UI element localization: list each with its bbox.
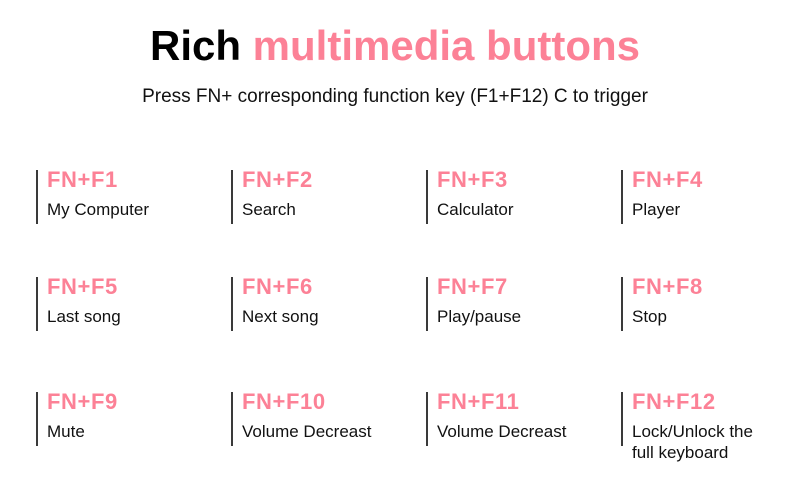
shortcut-key: FN+F2 bbox=[242, 168, 426, 193]
shortcut-key: FN+F4 bbox=[632, 168, 790, 193]
shortcut-item-fn-f1[interactable]: FN+F1 My Computer bbox=[36, 168, 231, 220]
shortcut-item-fn-f4[interactable]: FN+F4 Player bbox=[621, 168, 790, 220]
shortcut-key: FN+F1 bbox=[47, 168, 231, 193]
page-title-primary: Rich bbox=[150, 22, 253, 69]
shortcut-item-fn-f6[interactable]: FN+F6 Next song bbox=[231, 275, 426, 327]
page-header: Rich multimedia buttons Press FN+ corres… bbox=[0, 0, 790, 109]
shortcut-item-fn-f10[interactable]: FN+F10 Volume Decreast bbox=[231, 390, 426, 442]
shortcut-grid: FN+F1 My Computer FN+F2 Search FN+F3 Cal… bbox=[0, 168, 790, 490]
accent-bar-icon bbox=[426, 170, 428, 224]
shortcut-label: Search bbox=[242, 193, 426, 221]
page-subtitle: Press FN+ corresponding function key (F1… bbox=[0, 69, 790, 109]
accent-bar-icon bbox=[36, 170, 38, 224]
shortcut-key: FN+F12 bbox=[632, 390, 790, 415]
accent-bar-icon bbox=[621, 277, 623, 331]
shortcut-row: FN+F9 Mute FN+F10 Volume Decreast FN+F11… bbox=[36, 390, 780, 490]
shortcut-item-fn-f11[interactable]: FN+F11 Volume Decreast bbox=[426, 390, 621, 442]
page-title-accent: multimedia buttons bbox=[253, 22, 640, 69]
shortcut-label: Play/pause bbox=[437, 300, 621, 328]
shortcut-key: FN+F6 bbox=[242, 275, 426, 300]
shortcut-label: Calculator bbox=[437, 193, 621, 221]
accent-bar-icon bbox=[36, 392, 38, 446]
shortcut-item-fn-f5[interactable]: FN+F5 Last song bbox=[36, 275, 231, 327]
shortcut-item-fn-f8[interactable]: FN+F8 Stop bbox=[621, 275, 790, 327]
shortcut-row: FN+F1 My Computer FN+F2 Search FN+F3 Cal… bbox=[36, 168, 780, 275]
shortcut-key: FN+F7 bbox=[437, 275, 621, 300]
shortcut-key: FN+F10 bbox=[242, 390, 426, 415]
shortcut-item-fn-f3[interactable]: FN+F3 Calculator bbox=[426, 168, 621, 220]
shortcut-key: FN+F3 bbox=[437, 168, 621, 193]
shortcut-label: Player bbox=[632, 193, 790, 221]
accent-bar-icon bbox=[36, 277, 38, 331]
shortcut-key: FN+F11 bbox=[437, 390, 621, 415]
accent-bar-icon bbox=[621, 170, 623, 224]
shortcut-label: Stop bbox=[632, 300, 790, 328]
shortcut-item-fn-f12[interactable]: FN+F12 Lock/Unlock the full keyboard bbox=[621, 390, 790, 464]
shortcut-label: Volume Decreast bbox=[437, 415, 621, 443]
shortcut-item-fn-f7[interactable]: FN+F7 Play/pause bbox=[426, 275, 621, 327]
accent-bar-icon bbox=[426, 392, 428, 446]
shortcut-key: FN+F5 bbox=[47, 275, 231, 300]
accent-bar-icon bbox=[231, 392, 233, 446]
page-title: Rich multimedia buttons bbox=[0, 22, 790, 69]
shortcut-label: Last song bbox=[47, 300, 231, 328]
accent-bar-icon bbox=[426, 277, 428, 331]
shortcut-item-fn-f2[interactable]: FN+F2 Search bbox=[231, 168, 426, 220]
shortcut-label: Lock/Unlock the full keyboard bbox=[632, 415, 790, 465]
shortcut-label: Mute bbox=[47, 415, 231, 443]
shortcut-key: FN+F9 bbox=[47, 390, 231, 415]
shortcut-item-fn-f9[interactable]: FN+F9 Mute bbox=[36, 390, 231, 442]
shortcut-key: FN+F8 bbox=[632, 275, 790, 300]
accent-bar-icon bbox=[621, 392, 623, 446]
shortcut-row: FN+F5 Last song FN+F6 Next song FN+F7 Pl… bbox=[36, 275, 780, 390]
shortcut-label: Next song bbox=[242, 300, 426, 328]
shortcut-label: My Computer bbox=[47, 193, 231, 221]
accent-bar-icon bbox=[231, 277, 233, 331]
shortcut-label: Volume Decreast bbox=[242, 415, 426, 443]
accent-bar-icon bbox=[231, 170, 233, 224]
